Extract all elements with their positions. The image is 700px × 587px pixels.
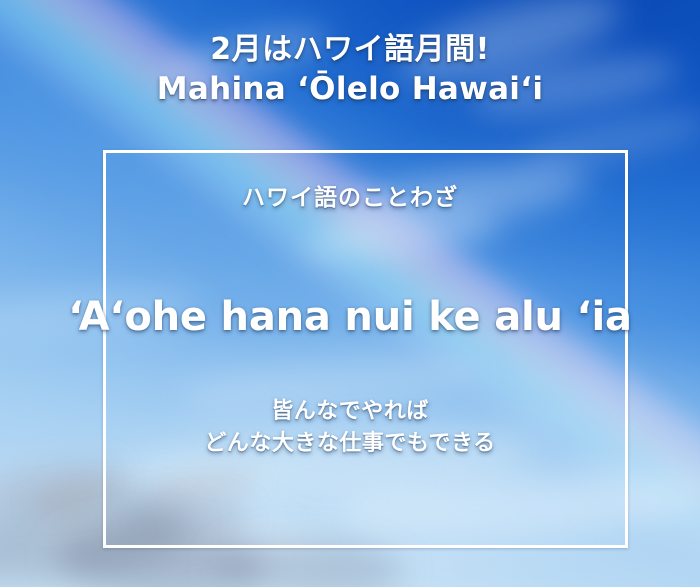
hawaiian-language-month-poster: 2月はハワイ語月間! Mahina ʻŌlelo Hawaiʻi ハワイ語のこと…	[0, 0, 700, 587]
headline-hawaiian: Mahina ʻŌlelo Hawaiʻi	[0, 71, 700, 108]
headline-japanese: 2月はハワイ語月間!	[0, 32, 700, 67]
poster-headline: 2月はハワイ語月間! Mahina ʻŌlelo Hawaiʻi	[0, 32, 700, 108]
translation-line-1: 皆んなでやれば	[0, 396, 700, 428]
translation-line-2: どんな大きな仕事でもできる	[0, 428, 700, 460]
proverb-translation: 皆んなでやれば どんな大きな仕事でもできる	[0, 396, 700, 460]
proverb-section-label: ハワイ語のことわざ	[0, 178, 700, 212]
hawaiian-proverb-text: ʻAʻohe hana nui ke alu ʻia	[0, 294, 700, 340]
